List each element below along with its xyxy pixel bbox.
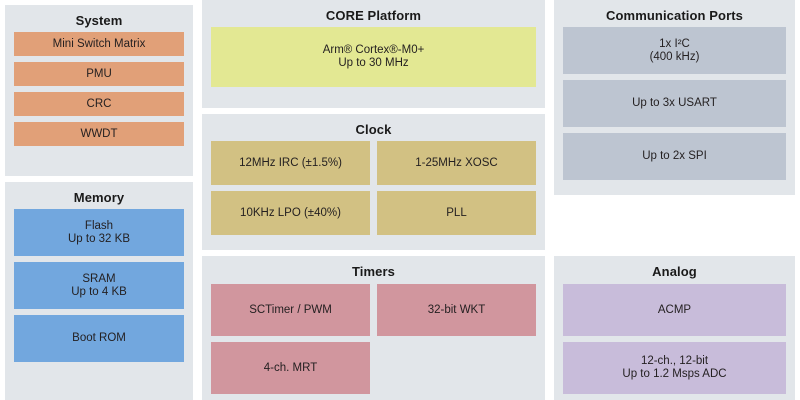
block-arm-cortex-m0plus[interactable]: Arm® Cortex®-M0+ Up to 30 MHz [211,27,536,87]
block-i2c[interactable]: 1x I²C (400 kHz) [563,27,786,74]
panel-title-system: System [5,14,193,27]
panel-communication-ports: Communication Ports 1x I²C (400 kHz) Up … [554,0,795,195]
block-list-timers: SCTimer / PWM 32-bit WKT 4-ch. MRT [211,284,536,394]
mcu-block-diagram: System Mini Switch Matrix PMU CRC WWDT M… [0,0,800,400]
panel-memory: Memory Flash Up to 32 KB SRAM Up to 4 KB… [5,182,193,400]
block-sctimer-pwm[interactable]: SCTimer / PWM [211,284,370,336]
block-flash[interactable]: Flash Up to 32 KB [14,209,184,256]
panel-title-analog: Analog [554,265,795,278]
block-usart[interactable]: Up to 3x USART [563,80,786,127]
block-spi[interactable]: Up to 2x SPI [563,133,786,180]
panel-title-core-platform: CORE Platform [202,9,545,22]
panel-system: System Mini Switch Matrix PMU CRC WWDT [5,5,193,176]
block-pmu[interactable]: PMU [14,62,184,86]
block-mini-switch-matrix[interactable]: Mini Switch Matrix [14,32,184,56]
block-wwdt[interactable]: WWDT [14,122,184,146]
panel-clock: Clock 12MHz IRC (±1.5%) 1-25MHz XOSC 10K… [202,114,545,250]
block-list-system: Mini Switch Matrix PMU CRC WWDT [14,32,184,146]
block-4-ch-mrt[interactable]: 4-ch. MRT [211,342,370,394]
block-list-communication-ports: 1x I²C (400 kHz) Up to 3x USART Up to 2x… [563,27,786,180]
panel-title-communication-ports: Communication Ports [554,9,795,22]
block-32-bit-wkt[interactable]: 32-bit WKT [377,284,536,336]
panel-title-memory: Memory [5,191,193,204]
panel-analog: Analog ACMP 12-ch., 12-bit Up to 1.2 Msp… [554,256,795,400]
block-12mhz-irc[interactable]: 12MHz IRC (±1.5%) [211,141,370,185]
block-1-25mhz-xosc[interactable]: 1-25MHz XOSC [377,141,536,185]
panel-core-platform: CORE Platform Arm® Cortex®-M0+ Up to 30 … [202,0,545,108]
block-list-analog: ACMP 12-ch., 12-bit Up to 1.2 Msps ADC [563,284,786,394]
block-10khz-lpo[interactable]: 10KHz LPO (±40%) [211,191,370,235]
block-boot-rom[interactable]: Boot ROM [14,315,184,362]
timers-empty-slot [377,342,536,394]
block-list-core-platform: Arm® Cortex®-M0+ Up to 30 MHz [211,27,536,87]
panel-timers: Timers SCTimer / PWM 32-bit WKT 4-ch. MR… [202,256,545,400]
block-list-clock: 12MHz IRC (±1.5%) 1-25MHz XOSC 10KHz LPO… [211,141,536,235]
panel-title-timers: Timers [202,265,545,278]
block-list-memory: Flash Up to 32 KB SRAM Up to 4 KB Boot R… [14,209,184,362]
block-acmp[interactable]: ACMP [563,284,786,336]
block-adc[interactable]: 12-ch., 12-bit Up to 1.2 Msps ADC [563,342,786,394]
block-crc[interactable]: CRC [14,92,184,116]
block-sram[interactable]: SRAM Up to 4 KB [14,262,184,309]
block-pll[interactable]: PLL [377,191,536,235]
panel-title-clock: Clock [202,123,545,136]
